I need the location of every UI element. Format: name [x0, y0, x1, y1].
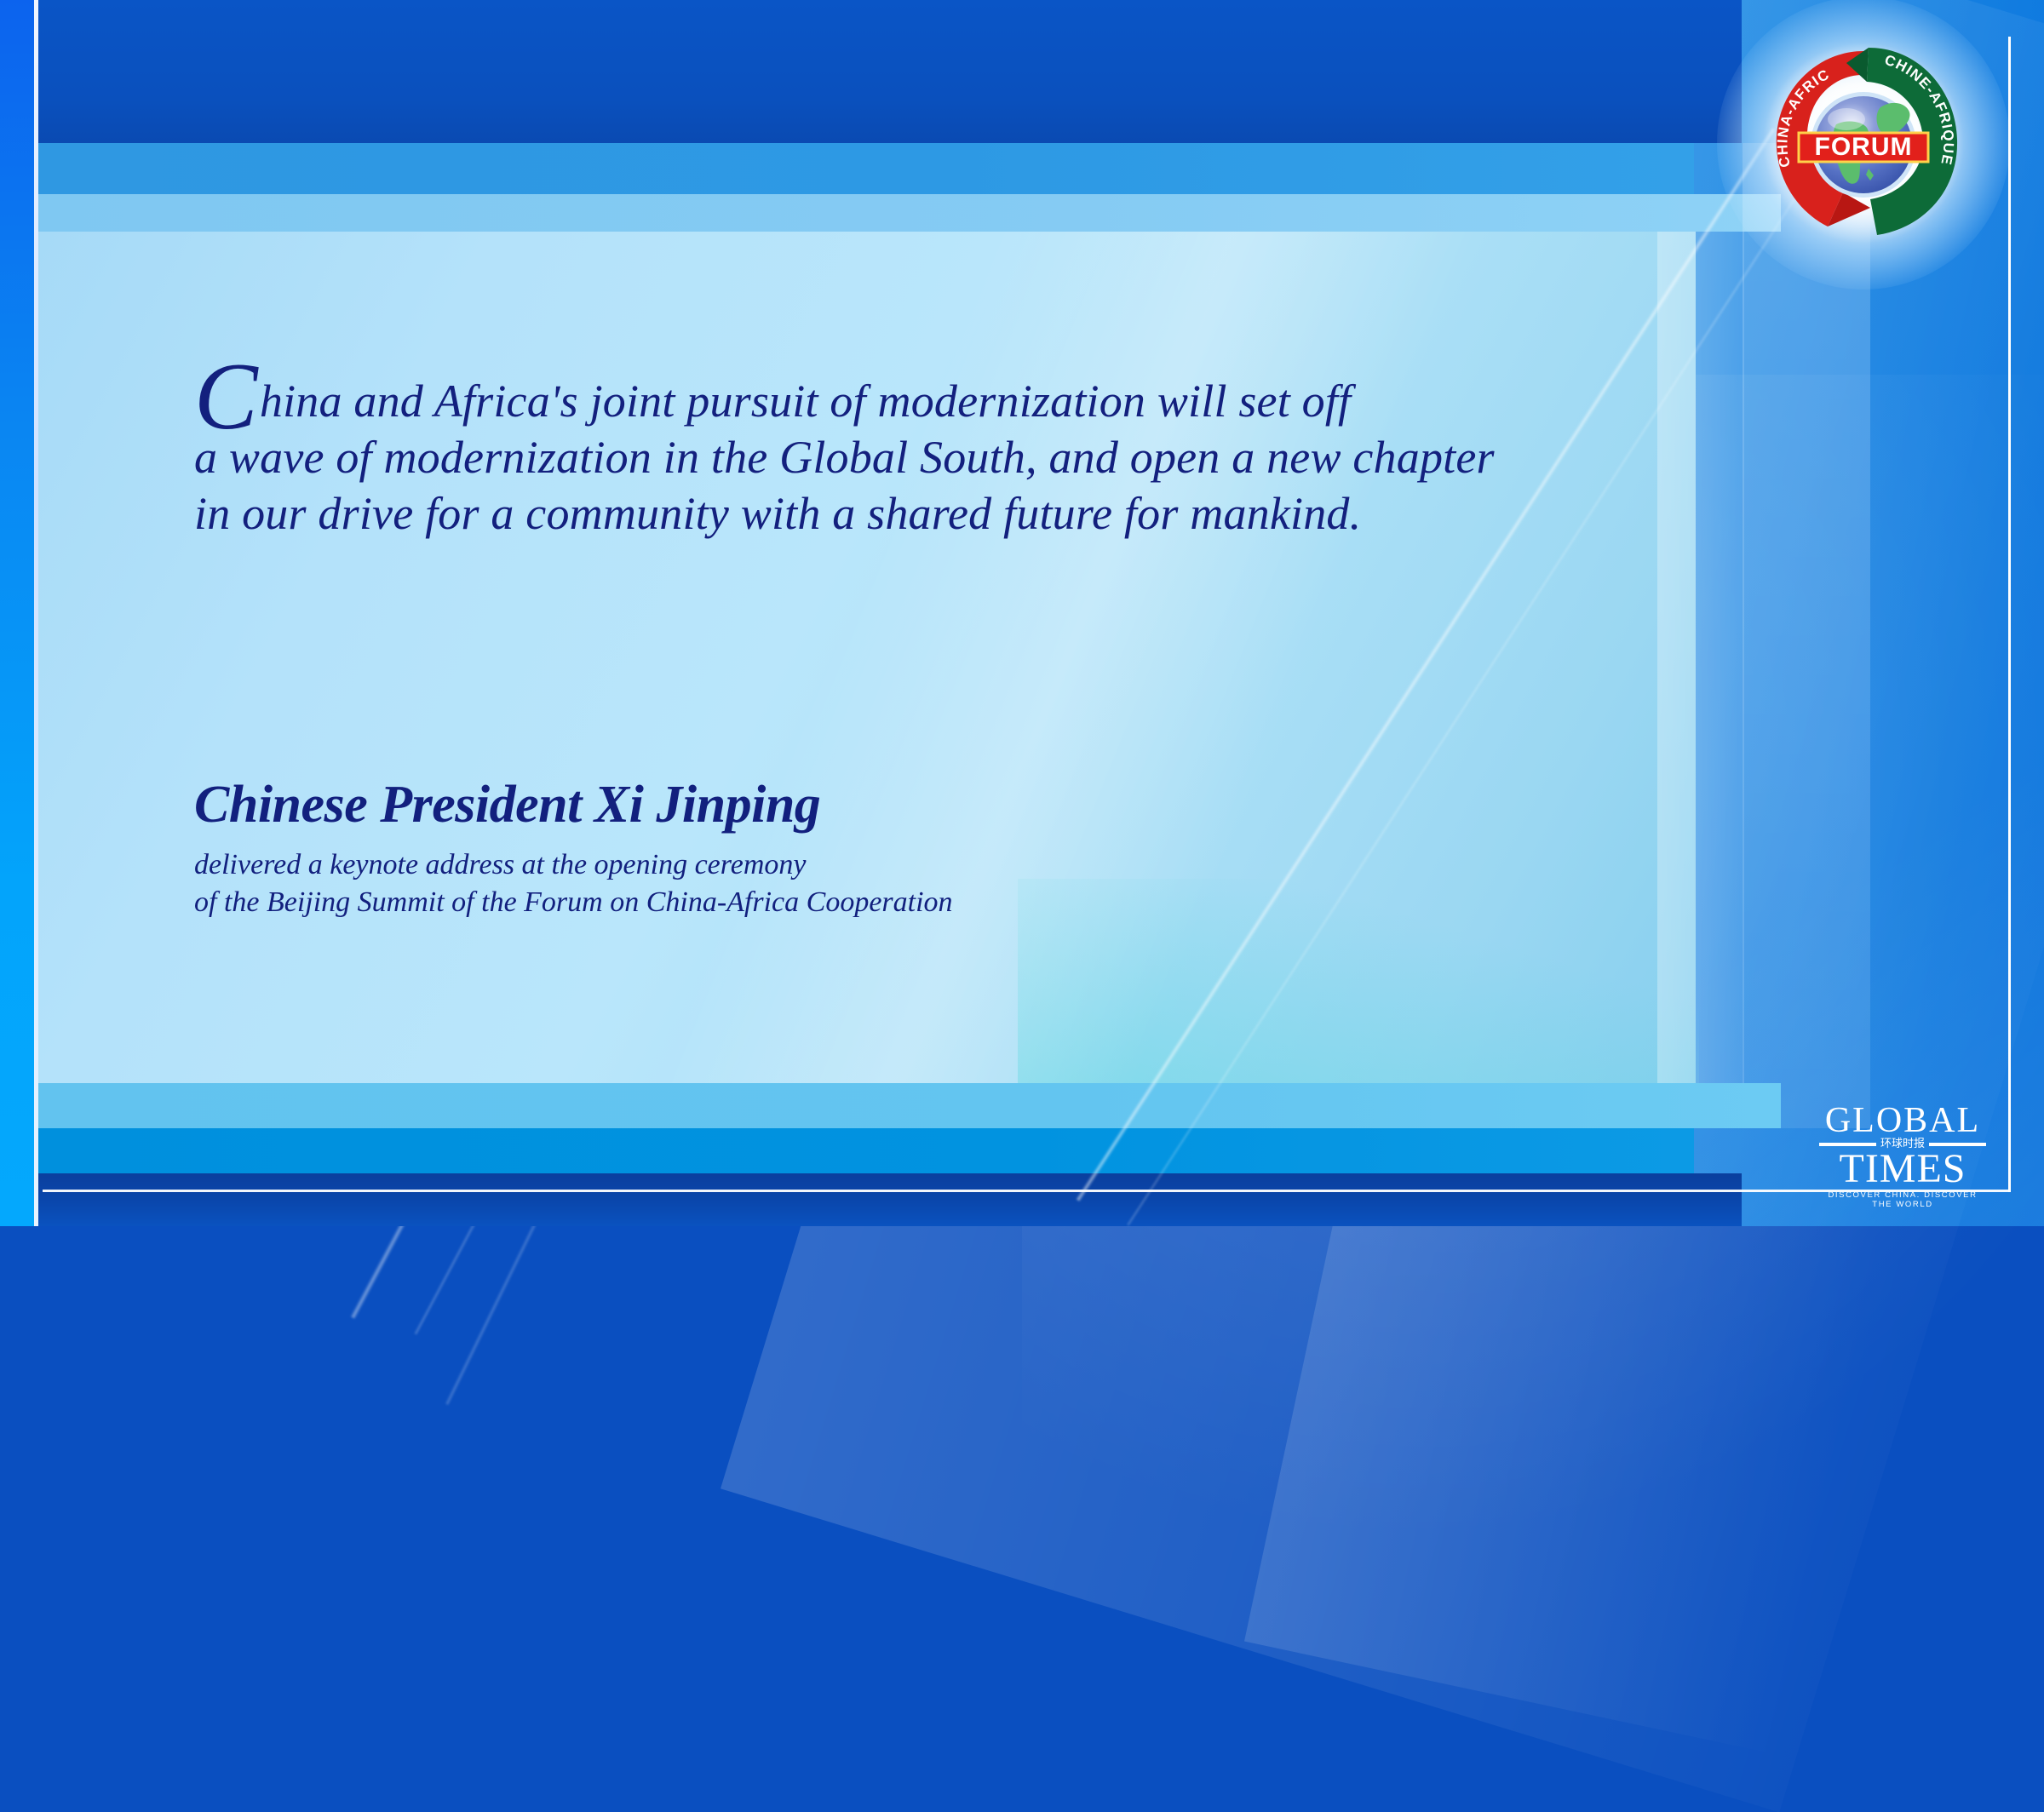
quote-line-3: in our drive for a community with a shar… [194, 485, 1659, 542]
left-edge-gradient-bar [0, 0, 34, 1226]
quote-block: China and Africa's joint pursuit of mode… [194, 373, 1659, 542]
panel-teal-gradient [1018, 879, 1699, 1083]
frame-bottom-rule [43, 1190, 2011, 1192]
bottom-mid-band [38, 1128, 1694, 1173]
focac-logo: FORUM CHINA-AFRICA CHINE-AFRIQUE [1761, 41, 1966, 245]
top-dark-band [38, 0, 1742, 143]
attribution-sub-line-1: delivered a keynote address at the openi… [194, 846, 953, 884]
speaker-name: Chinese President Xi Jinping [194, 771, 953, 838]
global-times-tagline: DISCOVER CHINA. DISCOVER THE WORLD [1819, 1190, 1986, 1209]
focac-logo-graphic: FORUM CHINA-AFRICA CHINE-AFRIQUE [1761, 41, 1966, 245]
quote-line-1-text: hina and Africa's joint pursuit of moder… [260, 376, 1351, 427]
top-mid-band [38, 143, 1694, 194]
quote-line-1: China and Africa's joint pursuit of mode… [194, 373, 1659, 429]
focac-globe-highlight [1828, 108, 1865, 130]
bottom-dark-band [38, 1173, 1742, 1226]
bottom-light-band [38, 1083, 1781, 1128]
focac-forum-label: FORUM [1815, 133, 1913, 161]
attribution-block: Chinese President Xi Jinping delivered a… [194, 771, 953, 921]
attribution-sub-line-2: of the Beijing Summit of the Forum on Ch… [194, 884, 953, 921]
quote-dropcap: C [194, 344, 258, 450]
panel-sheen [38, 232, 1696, 1083]
global-times-logo: GLOBAL 环球时报 TIMES DISCOVER CHINA. DISCOV… [1819, 1104, 1986, 1185]
content-panel [38, 232, 1696, 1083]
frame-right-rule [2008, 37, 2011, 1192]
global-times-word-global: GLOBAL [1819, 1104, 1986, 1138]
global-times-word-times: TIMES [1819, 1150, 1986, 1188]
top-light-band [38, 194, 1781, 232]
quote-line-2: a wave of modernization in the Global So… [194, 429, 1659, 485]
